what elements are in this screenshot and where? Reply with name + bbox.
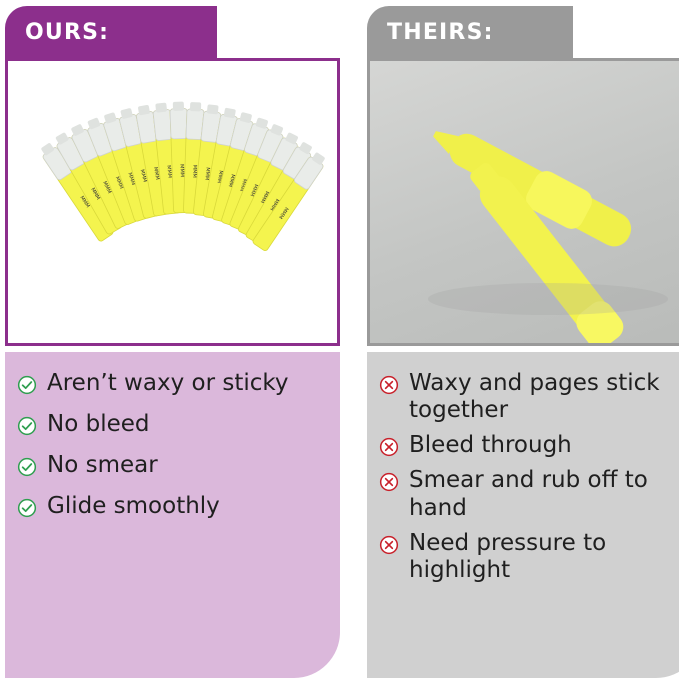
two-yellow-marker-pens-icon [370,61,679,343]
list-item: No bleed [17,411,328,438]
column-ours: OURS: MMM [5,0,340,683]
list-item: No smear [17,452,328,479]
cross-circle-icon [379,535,399,555]
list-item-label: Waxy and pages stick together [409,370,679,424]
svg-text:MMM: MMM [191,165,197,178]
list-item: Bleed through [379,432,679,459]
theirs-drawbacks-panel: Waxy and pages stick together Bleed thro… [367,352,679,678]
theirs-heading: THEIRS: [367,20,494,45]
svg-text:MMM: MMM [178,164,184,177]
list-item: Glide smoothly [17,493,328,520]
check-circle-icon [17,416,37,436]
theirs-image-frame [367,58,679,346]
list-item-label: Need pressure to highlight [409,530,679,584]
ours-photo: MMM MMM MMM [8,61,337,343]
cross-circle-icon [379,437,399,457]
list-item-label: Smear and rub off to hand [409,467,679,521]
ours-benefits-panel: Aren’t waxy or sticky No bleed No smear [5,352,340,678]
check-circle-icon [17,375,37,395]
comparison-infographic: OURS: MMM [0,0,679,683]
list-item-label: No bleed [47,411,149,438]
list-item: Need pressure to highlight [379,530,679,584]
column-theirs: THEIRS: [367,0,679,683]
fan-of-yellow-highlighters-icon: MMM MMM MMM [8,61,337,343]
list-item-label: Glide smoothly [47,493,220,520]
list-item: Smear and rub off to hand [379,467,679,521]
list-item-label: Aren’t waxy or sticky [47,370,288,397]
ours-heading: OURS: [5,20,109,45]
ours-banner: OURS: [5,6,217,58]
ours-image-frame: MMM MMM MMM [5,58,340,346]
check-circle-icon [17,457,37,477]
theirs-photo [370,61,679,343]
cross-circle-icon [379,375,399,395]
list-item: Waxy and pages stick together [379,370,679,424]
list-item-label: No smear [47,452,158,479]
theirs-banner: THEIRS: [367,6,573,58]
check-circle-icon [17,498,37,518]
list-item-label: Bleed through [409,432,572,459]
list-item: Aren’t waxy or sticky [17,370,328,397]
cross-circle-icon [379,472,399,492]
